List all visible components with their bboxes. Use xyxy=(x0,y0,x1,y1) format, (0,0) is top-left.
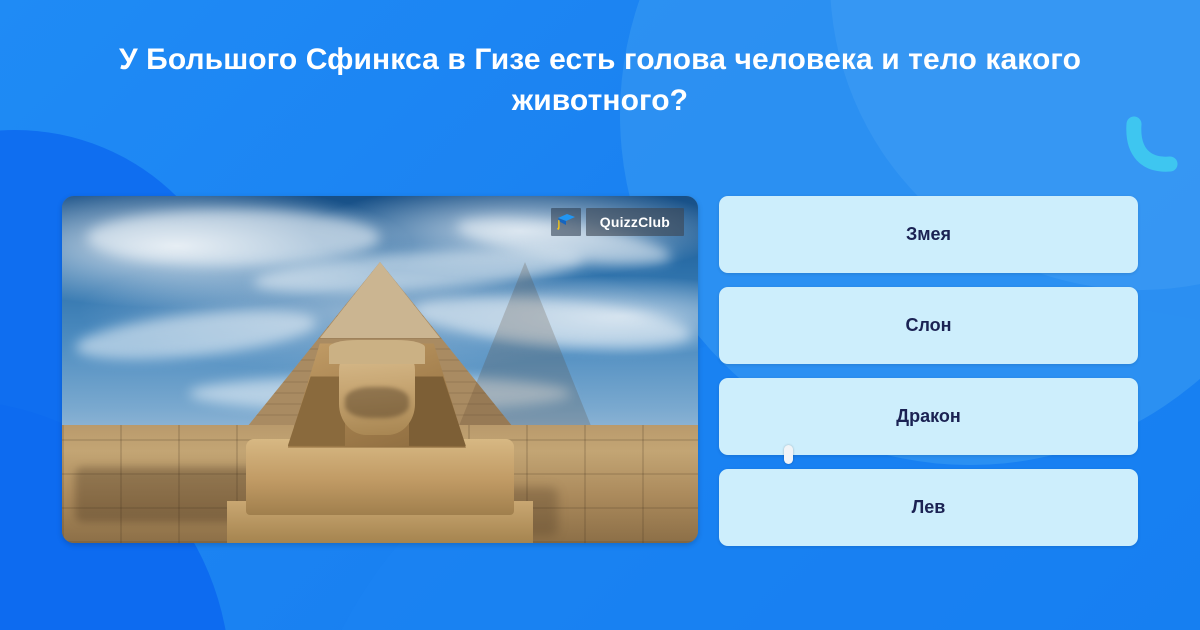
sphinx-face-shadow xyxy=(345,387,409,418)
answer-option-1[interactable]: Змея xyxy=(719,196,1138,273)
answer-option-3[interactable]: Дракон xyxy=(719,378,1138,455)
cloud-streak xyxy=(87,210,380,266)
sphinx-body xyxy=(246,439,513,515)
page-title: У Большого Сфинкса в Гизе есть голова че… xyxy=(70,40,1130,121)
graduation-cap-icon xyxy=(551,208,581,236)
watermark: QuizzClub xyxy=(551,208,684,236)
sphinx-headdress-top xyxy=(329,340,424,364)
question-container: У Большого Сфинкса в Гизе есть голова че… xyxy=(0,40,1200,121)
answer-option-4[interactable]: Лев xyxy=(719,469,1138,546)
scrollbar-thumb[interactable] xyxy=(784,445,793,464)
pyramid-cap xyxy=(320,262,440,338)
answer-option-label: Дракон xyxy=(896,406,960,427)
answer-option-label: Лев xyxy=(912,497,946,518)
sphinx-photo xyxy=(62,196,698,543)
answer-option-label: Слон xyxy=(905,315,951,336)
answer-option-2[interactable]: Слон xyxy=(719,287,1138,364)
answer-option-label: Змея xyxy=(906,224,951,245)
quiz-page: У Большого Сфинкса в Гизе есть голова че… xyxy=(0,0,1200,630)
answer-options-list: Змея Слон Дракон Лев xyxy=(719,196,1138,546)
question-image-card[interactable]: QuizzClub xyxy=(62,196,698,543)
watermark-brand-label: QuizzClub xyxy=(586,208,684,236)
